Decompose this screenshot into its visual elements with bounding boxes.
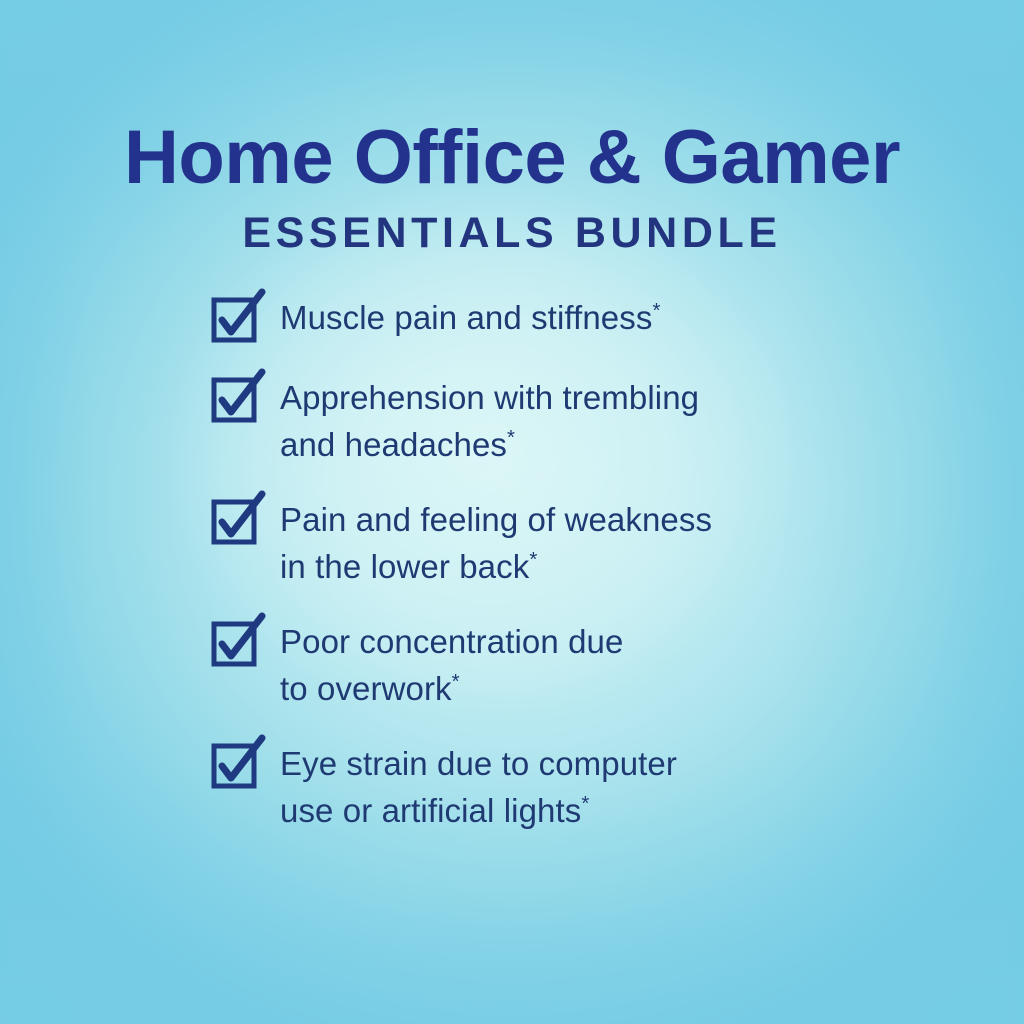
checklist: Muscle pain and stiffness* Apprehension … bbox=[212, 296, 912, 856]
checklist-item-text: Eye strain due to computer use or artifi… bbox=[280, 740, 912, 834]
checklist-item-line: use or artificial lights bbox=[280, 792, 581, 829]
poster-canvas: Home Office & Gamer ESSENTIALS BUNDLE Mu… bbox=[0, 0, 1024, 1024]
checklist-item-line: to overwork bbox=[280, 670, 452, 707]
footnote-marker: * bbox=[652, 299, 660, 322]
checklist-item-text: Apprehension with trembling and headache… bbox=[280, 374, 912, 468]
checklist-item-line: Pain and feeling of weakness bbox=[280, 501, 712, 538]
checklist-item: Eye strain due to computer use or artifi… bbox=[212, 742, 912, 834]
checked-checkbox-icon bbox=[212, 744, 260, 792]
footnote-marker: * bbox=[507, 426, 515, 449]
checklist-item-line: Eye strain due to computer bbox=[280, 745, 677, 782]
footnote-marker: * bbox=[452, 670, 460, 693]
page-title: Home Office & Gamer bbox=[0, 115, 1024, 201]
checked-checkbox-icon bbox=[212, 298, 260, 346]
checklist-item: Apprehension with trembling and headache… bbox=[212, 376, 912, 468]
checklist-item-line: Poor concentration due bbox=[280, 623, 623, 660]
footnote-marker: * bbox=[529, 548, 537, 571]
checked-checkbox-icon bbox=[212, 500, 260, 548]
checked-checkbox-icon bbox=[212, 622, 260, 670]
checklist-item-text: Poor concentration due to overwork* bbox=[280, 618, 912, 712]
checklist-item-line: Muscle pain and stiffness bbox=[280, 299, 652, 336]
page-subtitle: ESSENTIALS BUNDLE bbox=[0, 207, 1024, 259]
checklist-item-text: Pain and feeling of weakness in the lowe… bbox=[280, 496, 912, 590]
checklist-item: Pain and feeling of weakness in the lowe… bbox=[212, 498, 912, 590]
checked-checkbox-icon bbox=[212, 378, 260, 426]
poster-content: Home Office & Gamer ESSENTIALS BUNDLE Mu… bbox=[0, 0, 1024, 1024]
checklist-item: Poor concentration due to overwork* bbox=[212, 620, 912, 712]
checklist-item-line: in the lower back bbox=[280, 548, 529, 585]
checklist-item-line: and headaches bbox=[280, 426, 507, 463]
checklist-item-line: Apprehension with trembling bbox=[280, 379, 699, 416]
checklist-item: Muscle pain and stiffness* bbox=[212, 296, 912, 346]
footnote-marker: * bbox=[581, 792, 589, 815]
checklist-item-text: Muscle pain and stiffness* bbox=[280, 294, 912, 341]
